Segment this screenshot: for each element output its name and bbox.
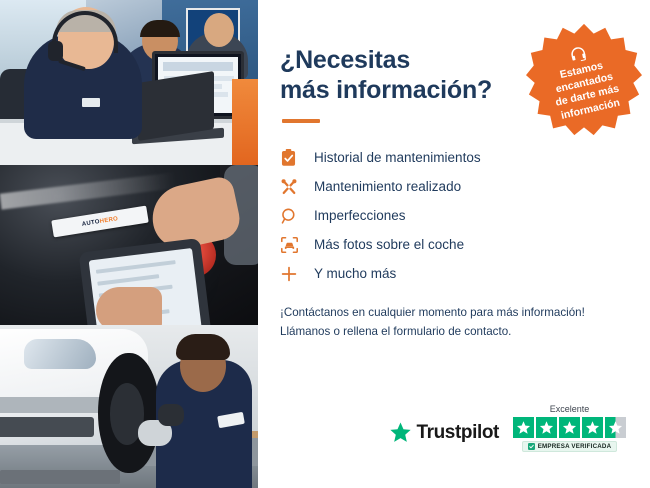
- agent-name-badge: [82, 98, 100, 107]
- feature-label: Historial de mantenimientos: [310, 150, 481, 165]
- laptop-screen: [138, 71, 214, 141]
- promo-banner: AUTOHERO: [0, 0, 650, 488]
- headset-icon: [568, 45, 588, 63]
- check-badge-icon: [528, 443, 535, 450]
- tablet-row: [96, 260, 176, 274]
- trustpilot-rating: Excelente: [513, 404, 626, 452]
- mechanic-hair: [176, 334, 230, 360]
- photo-call-center-agents-with-headsets: [0, 0, 258, 165]
- star-filled: [559, 417, 580, 438]
- crossed-tools-icon: [280, 178, 310, 196]
- star-filled: [513, 417, 534, 438]
- title-divider: [282, 119, 320, 123]
- heading-line-2: más información?: [280, 76, 492, 104]
- orange-equipment: [232, 79, 258, 165]
- car-scan-frame-icon: [280, 236, 310, 254]
- contact-text: ¡Contáctanos en cualquier momento para m…: [280, 304, 626, 341]
- info-badge: Estamos encantados de darte más informac…: [526, 22, 642, 140]
- trustpilot-wordmark: Trustpilot: [416, 422, 499, 444]
- magnifier-icon: [280, 207, 310, 225]
- heading-line-1: ¿Necesitas: [280, 46, 410, 74]
- background-person-head: [204, 13, 234, 47]
- feature-item-maintenance-done: Mantenimiento realizado: [280, 172, 626, 201]
- ruler-brand-text: AUTOHERO: [81, 216, 118, 228]
- feature-label: Mantenimiento realizado: [310, 179, 461, 194]
- verified-label: EMPRESA VERIFICADA: [538, 443, 612, 450]
- feature-item-imperfections: Imperfecciones: [280, 201, 626, 230]
- clipboard-check-icon: [280, 149, 310, 167]
- photo-collage: AUTOHERO: [0, 0, 258, 488]
- feature-list: Historial de mantenimientos Mantenimient…: [280, 143, 626, 288]
- photo-mechanic-inspecting-white-car-on-lift: [0, 325, 258, 488]
- star-rating: [513, 417, 626, 438]
- rating-label: Excelente: [550, 404, 590, 414]
- photo-inspector-measuring-car-with-autohero-ruler: AUTOHERO: [0, 165, 258, 325]
- feature-item-much-more: Y mucho más: [280, 259, 626, 288]
- feature-item-more-photos: Más fotos sobre el coche: [280, 230, 626, 259]
- feature-label: Imperfecciones: [310, 208, 406, 223]
- trustpilot-widget[interactable]: Trustpilot Excelente: [280, 404, 626, 452]
- feature-item-maintenance-history: Historial de mantenimientos: [280, 143, 626, 172]
- contact-line-1: ¡Contáctanos en cualquier momento para m…: [280, 304, 626, 323]
- tablet-row: [97, 274, 159, 286]
- screen-toolbar: [163, 62, 233, 71]
- feature-label: Más fotos sobre el coche: [310, 237, 464, 252]
- trustpilot-logo[interactable]: Trustpilot: [389, 421, 499, 452]
- car-grille-lower: [0, 417, 94, 437]
- mechanic-gloved-hand-dark: [158, 404, 184, 426]
- car-headlight: [24, 339, 96, 369]
- content-panel: ¿Necesitas más información? Estamos enca…: [258, 0, 650, 488]
- star-half-filled: [605, 417, 626, 438]
- car-lift-arm: [0, 470, 120, 484]
- star-filled: [536, 417, 557, 438]
- plus-icon: [280, 265, 310, 283]
- inspector-hand-holding-tablet: [96, 287, 162, 325]
- feature-label: Y mucho más: [310, 266, 396, 281]
- verified-business-badge: EMPRESA VERIFICADA: [522, 441, 618, 452]
- trustpilot-star-icon: [389, 421, 412, 444]
- star-filled: [582, 417, 603, 438]
- contact-line-2: Llámanos o rellena el formulario de cont…: [280, 323, 626, 342]
- car-grille-upper: [0, 397, 102, 413]
- agent-headset-earcup: [48, 41, 63, 61]
